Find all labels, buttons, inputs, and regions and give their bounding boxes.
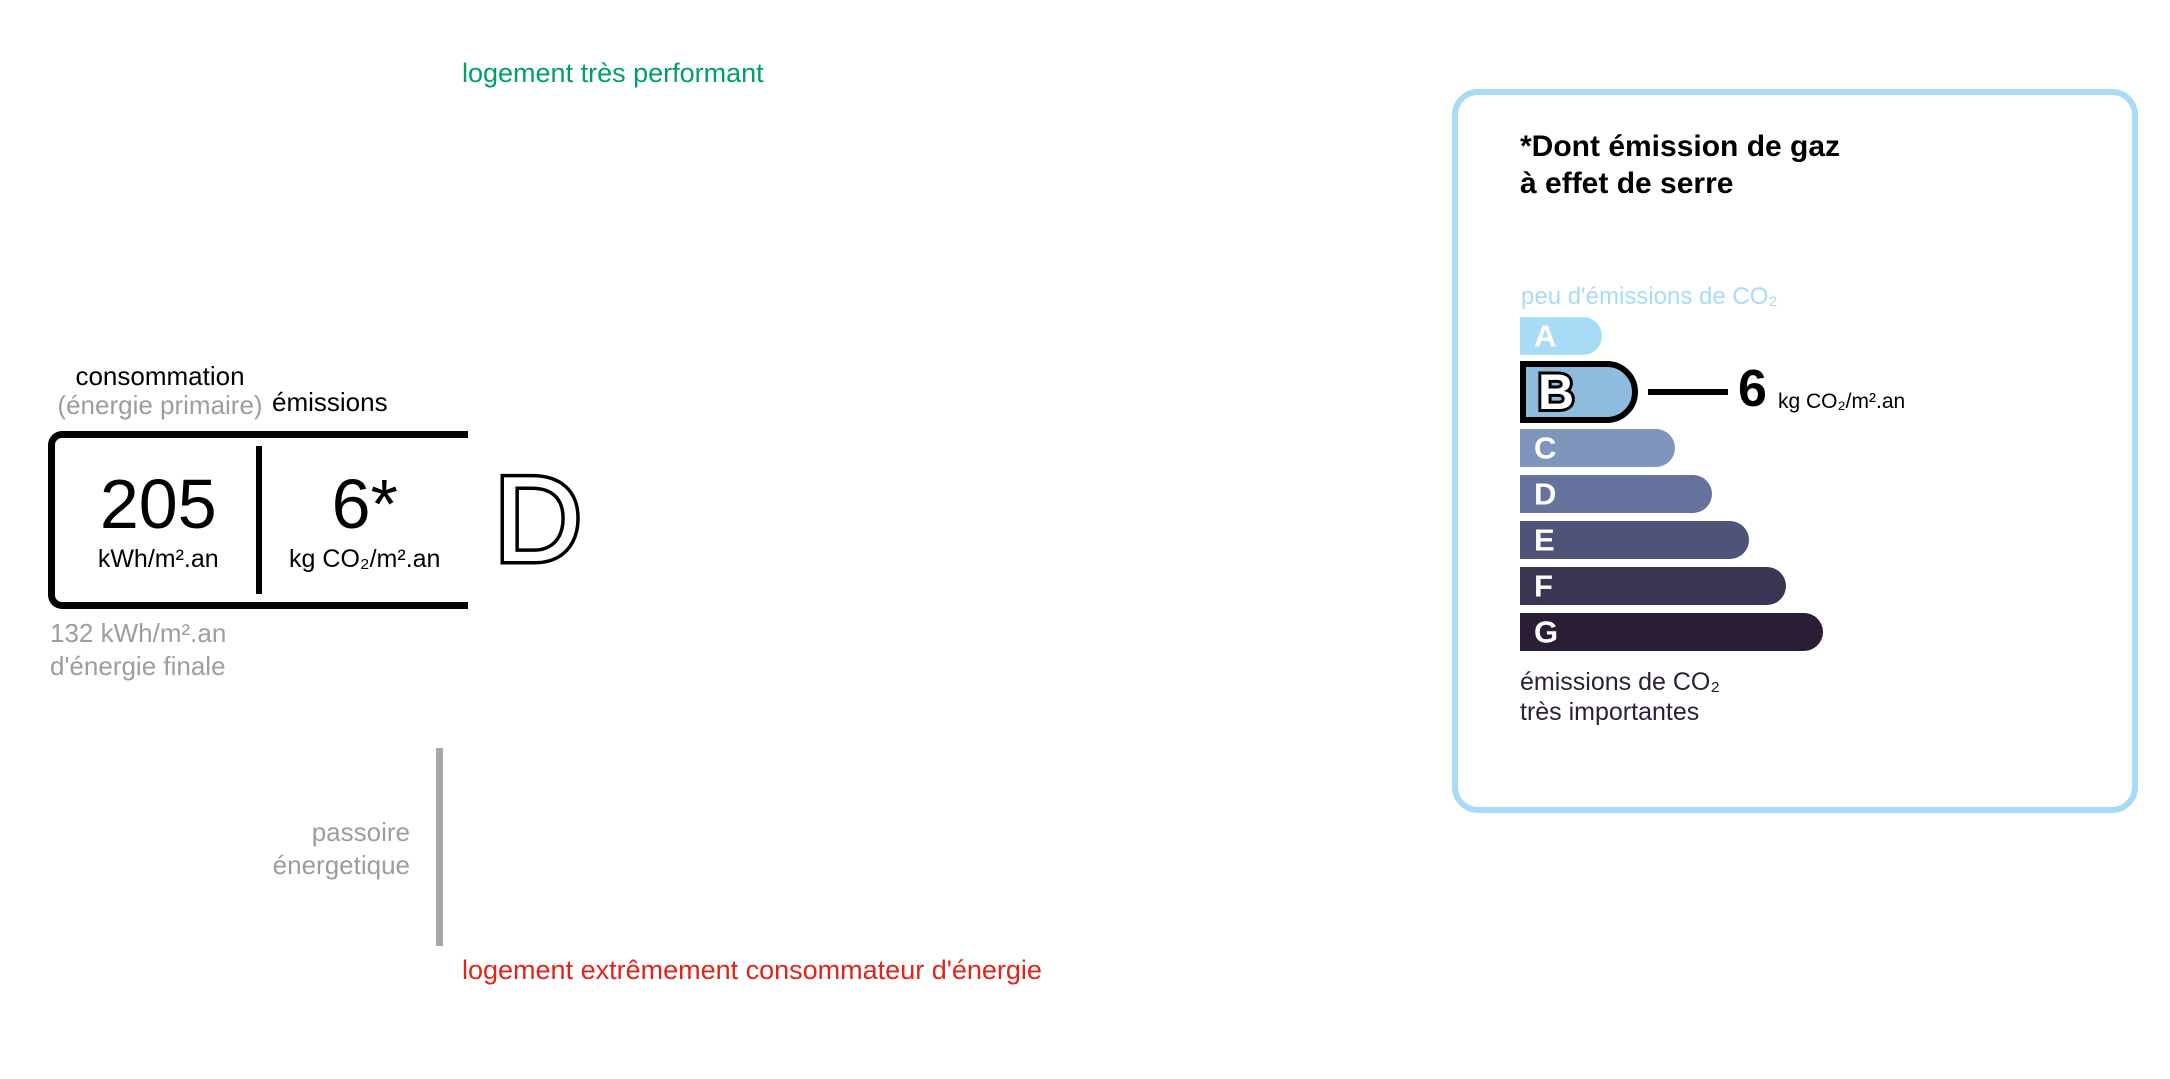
passoire-bracket-line [436,748,443,946]
passoire-line1: passoire [150,816,410,849]
energy-bar-letter-C: C [490,281,535,343]
co2-bar-letter-E: E [1534,525,1555,556]
co2-title-line1: *Dont émission de gaz [1520,129,1840,166]
value-box: 205 kWh/m².an 6* kg CO₂/m².an [48,431,468,609]
energy-bar-letter-G: G [490,871,538,933]
passoire-energetique-label: passoire énergetique [150,816,410,881]
co2-bar-D[interactable]: D [1520,475,1712,513]
co2-bar-G[interactable]: G [1520,613,1823,651]
chart-top-caption: logement très performant [462,58,764,89]
emissions-unit: kg CO₂/m².an [289,547,440,572]
co2-bar-A[interactable]: A [1520,317,1602,355]
co2-bar-letter-F: F [1534,571,1553,602]
energy-bar-letter-B: B [490,191,535,253]
consumption-value-cell: 205 kWh/m².an [55,438,262,602]
co2-bar-letter-C: C [1534,433,1556,464]
consumption-header: consommation (énergie primaire) [50,362,270,420]
co2-bar-letter-D: D [1534,479,1556,510]
co2-bar-letter-G: G [1534,617,1558,648]
co2-panel-title: *Dont émission de gaz à effet de serre [1520,129,1840,202]
consumption-unit: kWh/m².an [98,547,219,572]
energy-bar-letter-D: D [494,458,582,580]
co2-bar-F[interactable]: F [1520,567,1786,605]
co2-title-line2: à effet de serre [1520,166,1840,203]
consumption-header-sublabel: (énergie primaire) [50,391,270,420]
co2-bottom-line1: émissions de CO₂ [1520,667,1720,697]
co2-emissions-panel: *Dont émission de gaz à effet de serre p… [1452,89,2138,813]
emissions-value-cell: 6* kg CO₂/m².an [262,438,469,602]
energy-performance-chart: logement très performant A B C D E [0,0,1400,1079]
co2-bottom-caption: émissions de CO₂ très importantes [1520,667,1720,727]
energy-bar-letter-F: F [490,755,528,817]
passoire-line2: énergetique [150,849,410,882]
final-energy-line2: d'énergie finale [50,650,226,683]
co2-bar-B-selected[interactable]: B [1520,361,1638,423]
co2-value-unit: kg CO₂/m².an [1778,391,1905,412]
energy-bar-letter-E: E [490,639,531,701]
final-energy-line1: 132 kWh/m².an [50,617,226,650]
co2-value: 6 [1738,363,1767,415]
consumption-value: 205 [100,469,217,539]
co2-bar-letter-B: B [1538,367,1574,417]
co2-bar-E[interactable]: E [1520,521,1749,559]
emissions-header: émissions [272,388,388,417]
chart-bottom-caption: logement extrêmement consommateur d'éner… [462,955,1042,986]
co2-top-caption: peu d'émissions de CO₂ [1521,283,1778,311]
final-energy-note: 132 kWh/m².an d'énergie finale [50,617,226,682]
energy-bar-letter-A: A [490,101,535,163]
co2-leader-line [1648,389,1728,395]
co2-bottom-line2: très importantes [1520,697,1720,727]
co2-bar-C[interactable]: C [1520,429,1675,467]
emissions-value: 6* [332,469,398,539]
co2-bar-letter-A: A [1534,321,1556,352]
consumption-header-label: consommation [75,361,244,391]
